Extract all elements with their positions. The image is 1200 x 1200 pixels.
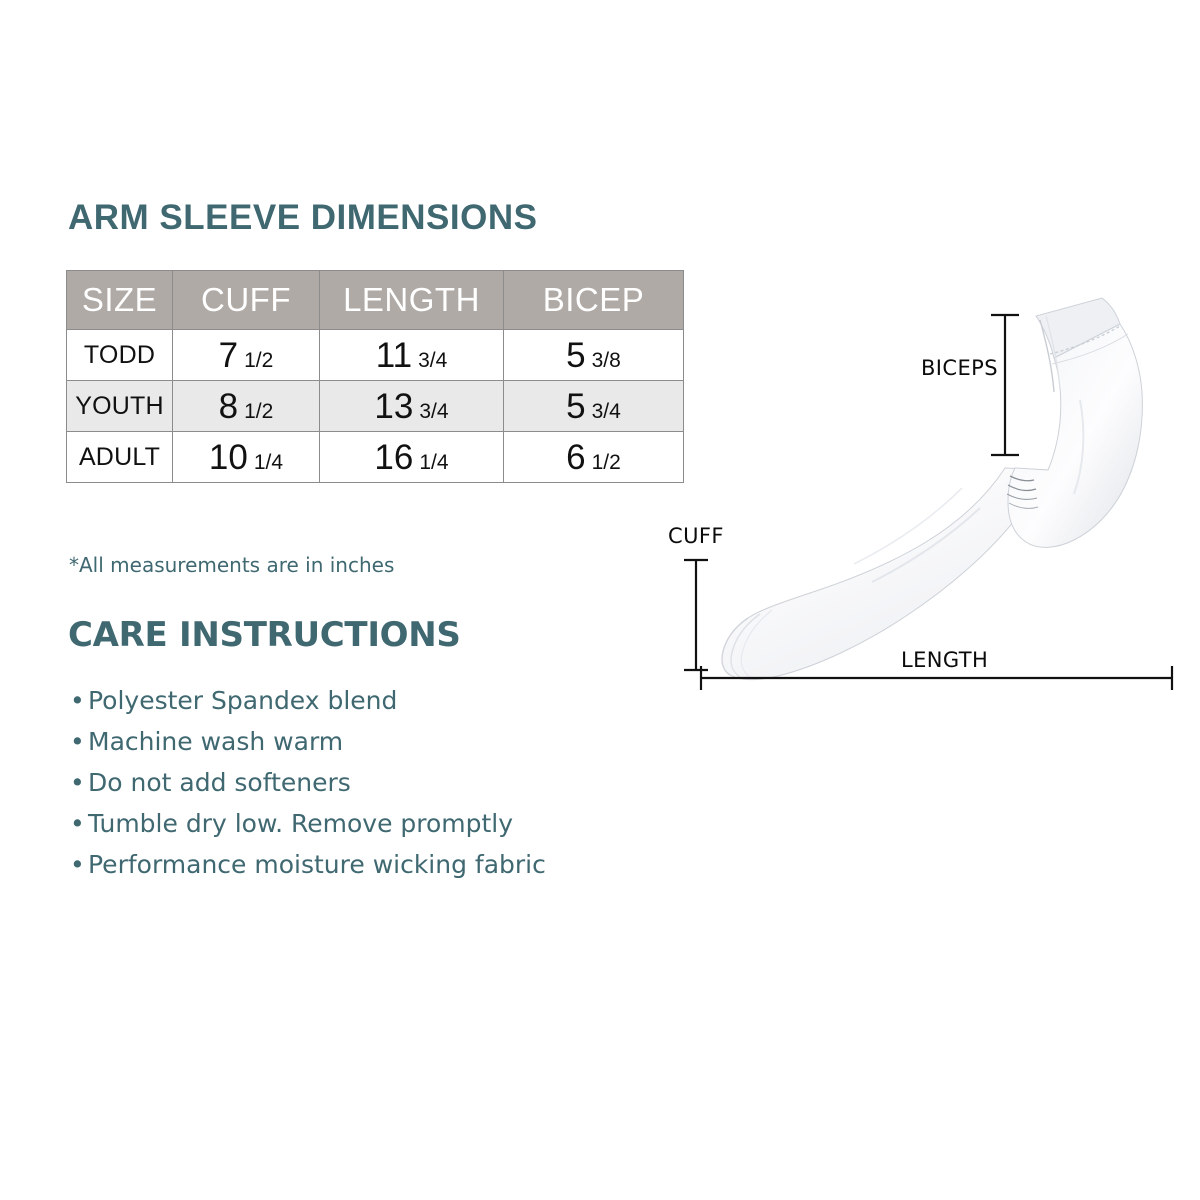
cell-length: 133/4 — [320, 381, 504, 432]
value-fraction: 3/4 — [419, 400, 448, 423]
value-whole: 13 — [374, 387, 413, 426]
list-item-label: Do not add softeners — [88, 768, 351, 797]
list-item: •Tumble dry low. Remove promptly — [70, 803, 546, 844]
cell-length: 113/4 — [320, 330, 504, 381]
cell-size: YOUTH — [67, 381, 173, 432]
biceps-dimension-line — [991, 315, 1019, 455]
product-illustration-panel: BICEPS CUFF LENGTH — [650, 280, 1200, 700]
table-header-row: SIZE CUFF LENGTH BICEP — [67, 271, 684, 330]
list-item-label: Polyester Spandex blend — [88, 686, 397, 715]
list-item-label: Performance moisture wicking fabric — [88, 850, 546, 879]
bullet-icon: • — [70, 762, 88, 803]
list-item-label: Machine wash warm — [88, 727, 343, 756]
column-header-cuff: CUFF — [173, 271, 320, 330]
table-row: YOUTH 81/2 133/4 53/4 — [67, 381, 684, 432]
list-item-label: Tumble dry low. Remove promptly — [88, 809, 513, 838]
arm-sleeve-diagram — [650, 280, 1200, 700]
bullet-icon: • — [70, 721, 88, 762]
dimension-label-length: LENGTH — [901, 648, 988, 672]
page-title-dimensions: ARM SLEEVE DIMENSIONS — [68, 198, 537, 238]
bullet-icon: • — [70, 803, 88, 844]
value-whole: 5 — [566, 336, 585, 375]
cell-length: 161/4 — [320, 432, 504, 483]
value-whole: 6 — [566, 438, 585, 477]
value-whole: 7 — [219, 336, 238, 375]
value-fraction: 3/4 — [418, 349, 447, 372]
bullet-icon: • — [70, 844, 88, 885]
section-title-care-instructions: CARE INSTRUCTIONS — [68, 615, 461, 655]
cell-size: TODD — [67, 330, 173, 381]
size-chart-table: SIZE CUFF LENGTH BICEP TODD 71/2 113/4 5… — [66, 270, 684, 483]
cuff-dimension-line — [684, 560, 708, 670]
cell-cuff: 101/4 — [173, 432, 320, 483]
care-instructions-list: •Polyester Spandex blend •Machine wash w… — [70, 680, 546, 885]
list-item: •Performance moisture wicking fabric — [70, 844, 546, 885]
value-whole: 16 — [374, 438, 413, 477]
cell-size: ADULT — [67, 432, 173, 483]
value-whole: 8 — [219, 387, 238, 426]
measurement-units-note: *All measurements are in inches — [69, 553, 394, 577]
list-item: •Polyester Spandex blend — [70, 680, 546, 721]
column-header-size: SIZE — [67, 271, 173, 330]
value-fraction: 1/4 — [419, 451, 448, 474]
value-whole: 5 — [566, 387, 585, 426]
value-whole: 10 — [209, 438, 248, 477]
table-row: ADULT 101/4 161/4 61/2 — [67, 432, 684, 483]
list-item: •Do not add softeners — [70, 762, 546, 803]
bullet-icon: • — [70, 680, 88, 721]
dimension-label-biceps: BICEPS — [921, 356, 998, 380]
value-whole: 11 — [376, 336, 412, 375]
dimension-label-cuff: CUFF — [668, 524, 724, 548]
value-fraction: 1/2 — [592, 451, 621, 474]
column-header-length: LENGTH — [320, 271, 504, 330]
value-fraction: 1/2 — [244, 400, 273, 423]
list-item: •Machine wash warm — [70, 721, 546, 762]
value-fraction: 1/2 — [244, 349, 273, 372]
value-fraction: 3/8 — [592, 349, 621, 372]
cell-cuff: 81/2 — [173, 381, 320, 432]
table-row: TODD 71/2 113/4 53/8 — [67, 330, 684, 381]
value-fraction: 1/4 — [254, 451, 283, 474]
value-fraction: 3/4 — [592, 400, 621, 423]
cell-cuff: 71/2 — [173, 330, 320, 381]
